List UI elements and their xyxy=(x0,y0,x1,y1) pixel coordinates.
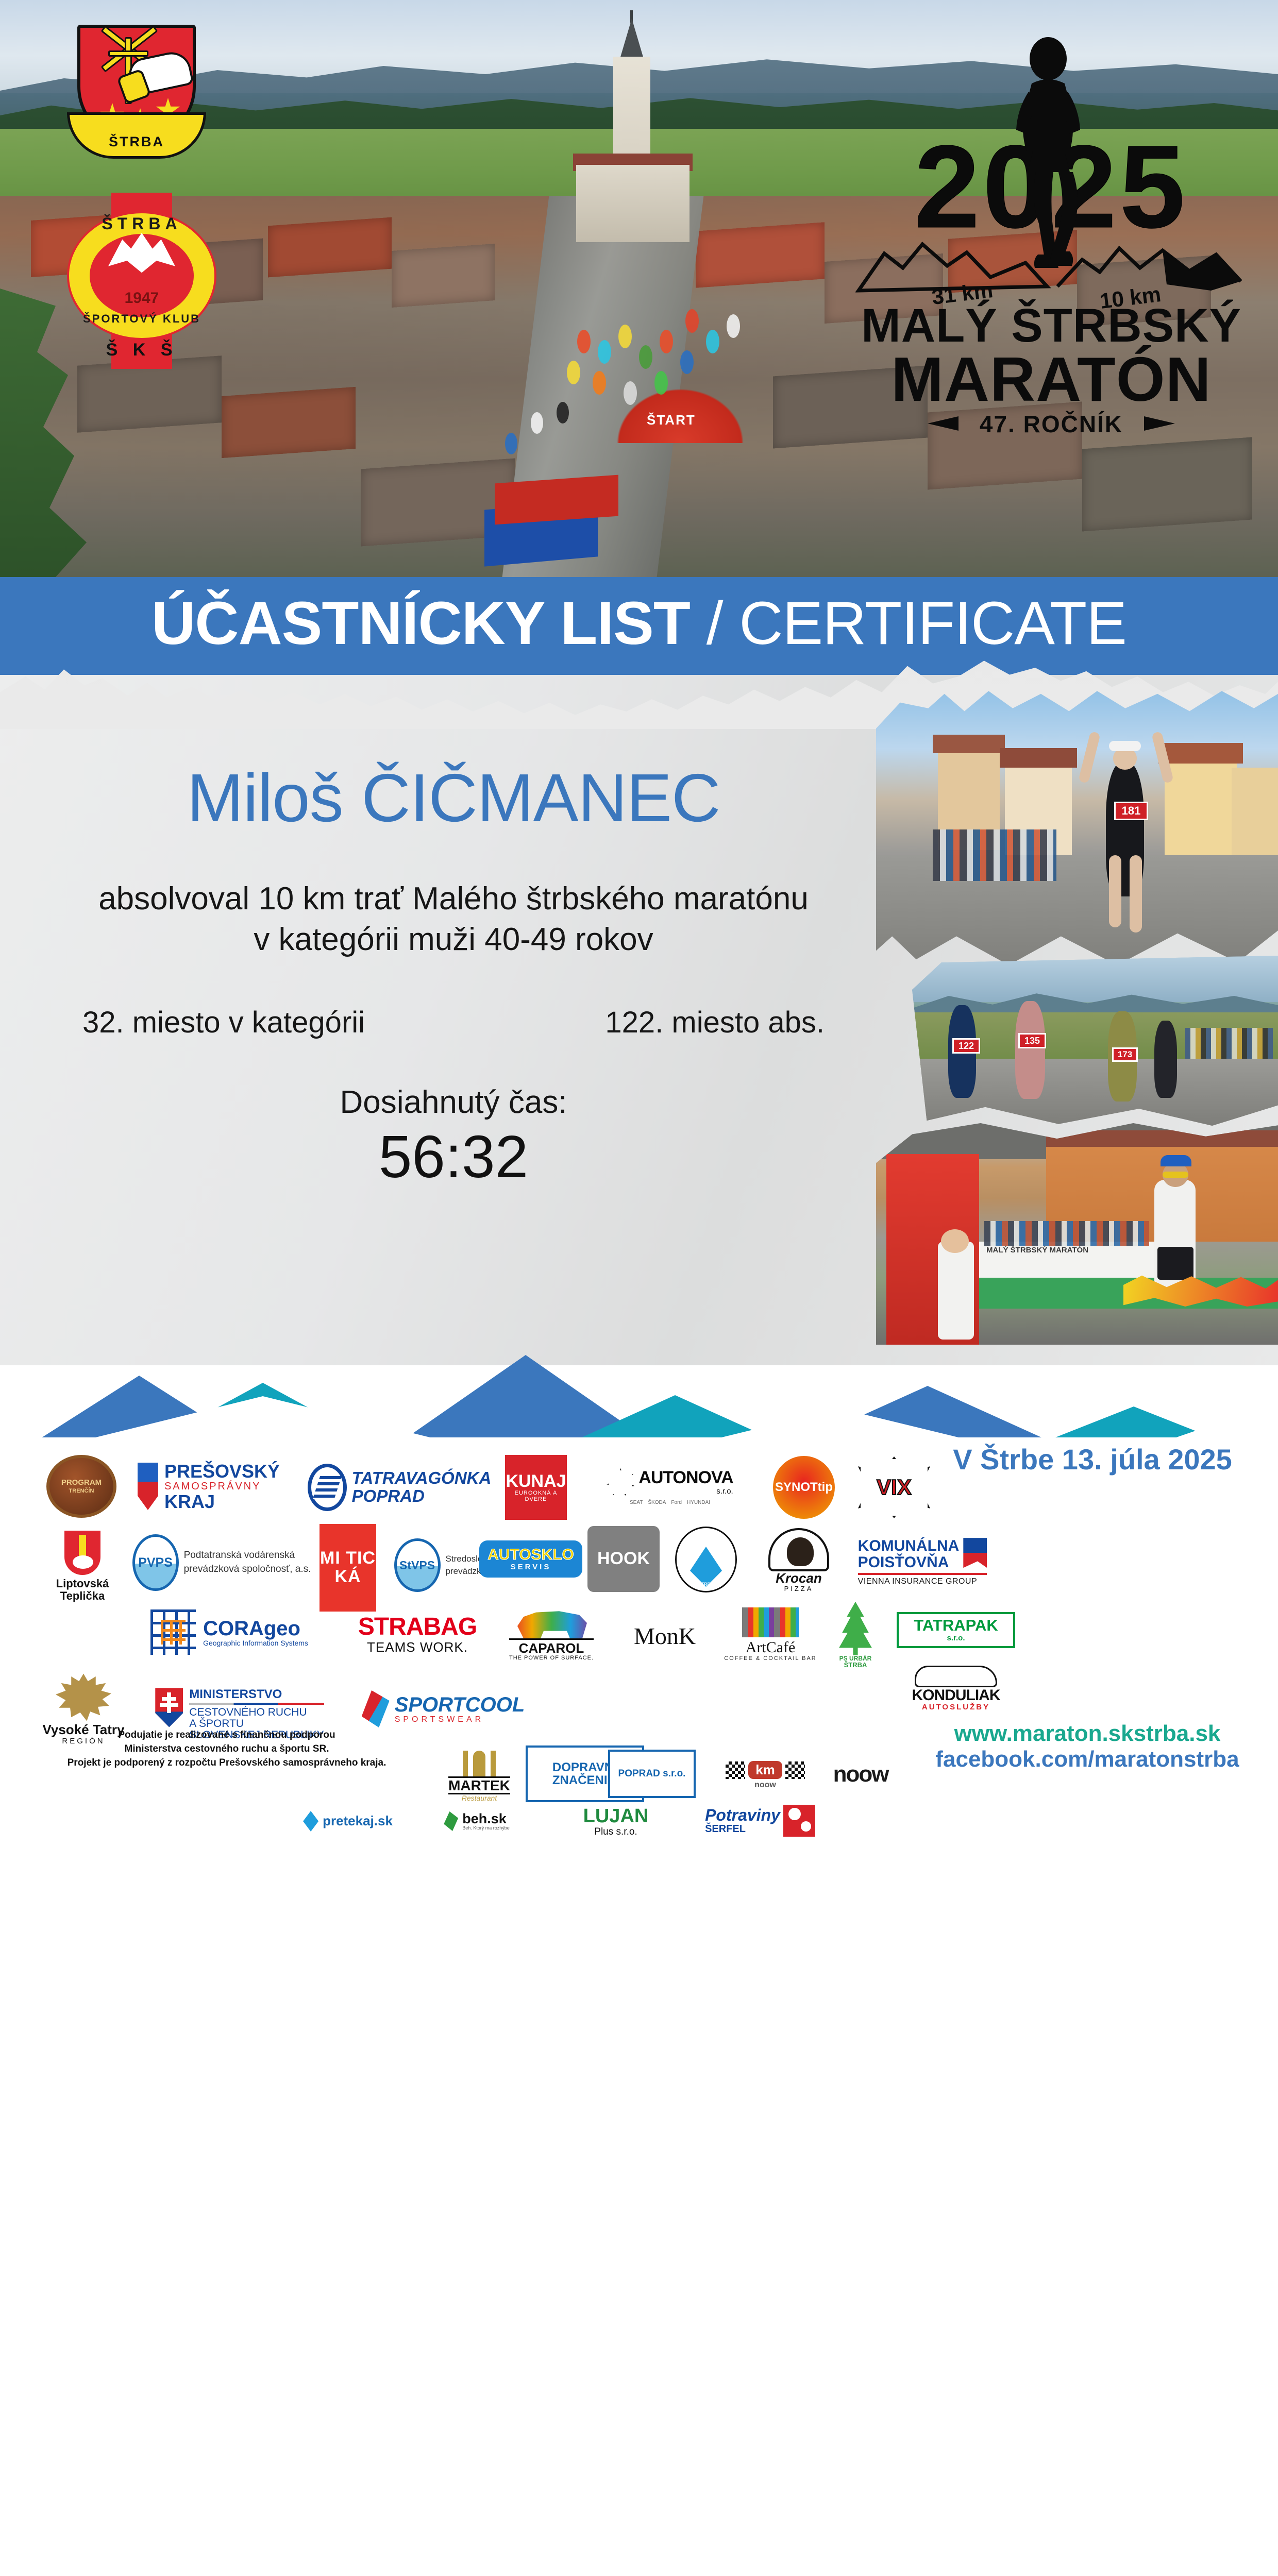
sponsor-potraviny-serfel[interactable]: Potraviny ŠERFEL xyxy=(685,1799,835,1842)
runner-dot xyxy=(680,350,694,374)
sportcool-mark-icon xyxy=(362,1690,390,1727)
roof xyxy=(392,244,495,308)
runner-dot xyxy=(727,314,740,338)
runner-dot xyxy=(593,371,606,395)
spectator-dot xyxy=(505,433,517,454)
folk-girl-head xyxy=(941,1229,969,1253)
roof xyxy=(268,217,392,278)
sponsor-sublabel: s.r.o. xyxy=(638,1487,733,1496)
sks-arc-text: ŠPORTOVÝ KLUB xyxy=(67,312,216,326)
sponsor-komunalna-poistovna[interactable]: KOMUNÁLNA POISŤOVŇA VIENNA INSURANCE GRO… xyxy=(850,1529,995,1595)
runner-leg xyxy=(1130,855,1142,933)
certificate-banner: ÚČASTNÍCKY LIST / CERTIFICATE xyxy=(0,577,1278,675)
sponsor-sublabel: AUTOSLUŽBY xyxy=(912,1703,1000,1711)
sky xyxy=(912,956,1278,1002)
sponsor-label: MINISTERSTVO xyxy=(189,1688,324,1701)
sponsor-pd-strba[interactable]: ŠTRBA xyxy=(670,1526,742,1593)
sponsor-label: SPORTCOOL xyxy=(395,1694,525,1716)
sponsor-sublabel: COFFEE & COCKTAIL BAR xyxy=(724,1656,817,1662)
sponsor-presovsky-kraj[interactable]: PREŠOVSKÝ SAMOSPRÁVNY KRAJ xyxy=(134,1458,283,1515)
sponsor-label: VIX xyxy=(877,1476,912,1499)
roof xyxy=(696,222,825,287)
sponsor-poprad-sro[interactable]: POPRAD s.r.o. xyxy=(608,1750,696,1798)
winner-sunglasses xyxy=(1163,1172,1188,1178)
sponsor-caparol[interactable]: CAPAROL THE POWER OF SURFACE. xyxy=(495,1602,608,1667)
sponsor-vix[interactable]: VIX xyxy=(855,1455,933,1520)
sponsor-label: MARTEK xyxy=(448,1776,510,1794)
sponsor-sublabel: POISŤOVŇA xyxy=(858,1554,960,1571)
certificate-content: Miloš ČIČMANEC absolvoval 10 km trať Mal… xyxy=(0,762,907,1189)
autonova-star-icon xyxy=(607,1468,634,1496)
pretekaj-mark-icon xyxy=(303,1811,318,1832)
spectators xyxy=(933,829,1056,881)
sponsor-miticka[interactable]: MI TIC KÁ xyxy=(320,1524,376,1612)
runner-cap xyxy=(1109,741,1141,751)
sponsor-label: MonK xyxy=(634,1624,696,1649)
event-date: V Štrbe 13. júla 2025 xyxy=(922,1443,1263,1476)
sponsor-ps-urbar-strba[interactable]: PS URBÁR ŠTRBA xyxy=(819,1599,892,1671)
finish-time-value: 56:32 xyxy=(0,1126,907,1189)
roof xyxy=(933,735,1005,753)
facebook-url[interactable]: facebook.com/maratonstrba xyxy=(907,1747,1268,1772)
runner-dot xyxy=(567,361,580,384)
mountain-outline-icon xyxy=(855,237,1247,304)
arrow-right-icon xyxy=(1144,416,1175,431)
sks-top-text: ŠTRBA xyxy=(67,214,216,233)
banner-title: ÚČASTNÍCKY LIST / CERTIFICATE xyxy=(0,588,1278,658)
sponsor-behsk[interactable]: beh.sk Beh. Ktorý ma rozhýbe xyxy=(417,1803,536,1839)
church-body xyxy=(576,165,690,242)
sponsor-sublabel: POPRAD xyxy=(352,1487,492,1505)
sponsor-label: ArtCafé xyxy=(724,1639,817,1656)
spectator-dot xyxy=(557,402,569,423)
runner-bib: 181 xyxy=(1114,802,1148,820)
sponsor-lujan-plus[interactable]: LUJAN Plus s.r.o. xyxy=(562,1801,670,1842)
sponsor-strabag[interactable]: STRABAG TEAMS WORK. xyxy=(350,1603,484,1665)
sponsor-sublabel2: KRAJ xyxy=(164,1492,280,1512)
caparol-elephant-icon xyxy=(513,1607,590,1638)
marathon-logo: 2025 31 km 10 km MALÝ ŠTRBSKÝ MARATÓN 4 xyxy=(840,31,1263,469)
achievement-line-1: absolvoval 10 km trať Malého štrbského m… xyxy=(0,878,907,919)
time-label: Dosiahnutý čas: xyxy=(0,1084,907,1121)
sponsor-sublabel: noow xyxy=(726,1781,805,1790)
winner-headband xyxy=(1161,1155,1191,1166)
chamois-icon xyxy=(56,1673,111,1721)
banner-title-en: CERTIFICATE xyxy=(739,589,1126,657)
sponsor-label: PROGRAM xyxy=(61,1478,102,1488)
sponsor-label: CORAgeo xyxy=(203,1618,308,1639)
sponsor-liptovska-teplicka[interactable]: Liptovská Teplička xyxy=(41,1528,124,1605)
sponsor-sublabel: Plus s.r.o. xyxy=(583,1827,649,1837)
finish-banner-text: MALÝ ŠTRBSKÝ MARATÓN xyxy=(986,1246,1131,1256)
sponsor-sublabel: Teplička xyxy=(56,1590,109,1602)
crest-crossbar xyxy=(108,50,148,57)
disclaimer-line-3: Projekt je podporený z rozpočtu Prešovsk… xyxy=(31,1756,423,1770)
runner-body xyxy=(1015,1001,1045,1099)
sponsor-label: KONDULIAK xyxy=(912,1687,1000,1704)
place-absolute: 122. miesto abs. xyxy=(605,1005,825,1040)
sks-year: 1947 xyxy=(67,290,216,307)
sponsor-synot-tip[interactable]: SYNOTtip xyxy=(768,1455,840,1520)
sponsor-autosklo-servis[interactable]: AUTOSKLO SERVIS xyxy=(479,1528,582,1590)
sponsor-sublabel: TRENČÍN xyxy=(61,1488,102,1495)
roof xyxy=(1158,743,1243,764)
start-arch-label: ŠTART xyxy=(647,412,696,428)
roof xyxy=(222,387,356,458)
house xyxy=(1232,768,1278,858)
runner-leg xyxy=(1109,855,1121,927)
disclaimer-line-1: Podujatie je realizované s finančnou pod… xyxy=(31,1728,423,1742)
runner-dot xyxy=(654,371,668,395)
sponsor-sublabel2: prevádzková spoločnosť, a.s. xyxy=(184,1563,311,1577)
spectators xyxy=(984,1221,1149,1246)
sponsor-tatrapak[interactable]: TATRAPAK s.r.o. xyxy=(897,1601,1015,1659)
sponsor-sublabel2: VIENNA INSURANCE GROUP xyxy=(858,1573,987,1586)
sponsor-sublabel: ŠERFEL xyxy=(705,1824,780,1835)
sponsor-sublabel: Podtatranská vodárenská xyxy=(184,1549,311,1563)
sponsor-sublabel: ŠTRBA xyxy=(698,1582,714,1587)
sponsor-sublabel: ŠTRBA xyxy=(836,1662,875,1669)
sponsor-label: HOOK xyxy=(597,1550,650,1568)
hero-photo-header: ŠTART ŠTRBA ŠTRBA xyxy=(0,0,1278,577)
sponsor-pretekaj-sk[interactable]: pretekaj.sk xyxy=(289,1803,407,1839)
sponsor-sublabel: s.r.o. xyxy=(947,1634,965,1642)
sponsor-label: TATRAPAK xyxy=(914,1616,998,1634)
sponsor-label: AUTONOVA xyxy=(638,1469,733,1487)
sks-sport-club-logo: ŠTRBA 1947 ŠPORTOVÝ KLUB Š K Š xyxy=(67,196,216,366)
sponsor-sublabel: EUROOKNÁ A DVERE xyxy=(505,1490,567,1502)
runner-dot xyxy=(660,330,673,353)
kraj-emblem-icon xyxy=(138,1463,158,1510)
sponsor-label: StVPS xyxy=(399,1559,435,1571)
sponsor-corageo[interactable]: CORAgeo Geographic Information Systems xyxy=(129,1601,330,1663)
sponsor-label: MI TIC KÁ xyxy=(320,1549,376,1586)
tatravagonka-mark-icon xyxy=(308,1464,347,1511)
photo-finish-female-runner: 181 xyxy=(876,685,1278,974)
runner-dot xyxy=(624,381,637,405)
sponsor-sublabel: SPORTSWEAR xyxy=(395,1716,525,1724)
church xyxy=(603,10,660,242)
behsk-mark-icon xyxy=(444,1811,458,1831)
tree-icon xyxy=(836,1602,875,1655)
photo-male-winner-finish: MALÝ ŠTRBSKÝ MARATÓN xyxy=(876,1123,1278,1345)
disclaimer-line-2: Ministerstva cestovného ruchu a športu S… xyxy=(31,1742,423,1756)
sponsor-sublabel: TEAMS WORK. xyxy=(358,1640,477,1654)
sponsor-artcafe[interactable]: ArtCafé COFFEE & COCKTAIL BAR xyxy=(721,1601,819,1668)
runner-dot xyxy=(706,330,719,353)
runner-body xyxy=(1154,1021,1177,1098)
autonova-brands: SEATŠKODAFordHYUNDAI xyxy=(607,1500,733,1506)
sponsor-label: Krocan xyxy=(768,1571,829,1585)
sponsor-tatravagonka[interactable]: TATRAVAGÓNKA POPRAD xyxy=(309,1459,490,1516)
event-tent-red xyxy=(495,475,618,525)
sponsor-label: km xyxy=(755,1762,775,1777)
sponsor-label: PVPS xyxy=(138,1556,173,1569)
sponsor-label: PREŠOVSKÝ xyxy=(164,1462,280,1481)
runner-dot xyxy=(639,345,652,369)
sponsor-label: SYNOTtip xyxy=(775,1481,833,1494)
car-icon xyxy=(915,1666,997,1687)
sponsor-label: CAPAROL xyxy=(509,1638,594,1655)
runner-bib: 135 xyxy=(1018,1033,1046,1048)
runner-dot xyxy=(685,309,699,333)
sponsor-krocan-pizza[interactable]: Krocan PIZZA xyxy=(758,1527,840,1593)
sponsor-label: beh.sk xyxy=(462,1811,507,1826)
sponsor-konduliak[interactable]: KONDULIAK AUTOSLUŽBY xyxy=(892,1659,1020,1718)
participant-name: Miloš ČIČMANEC xyxy=(0,762,907,834)
marathon-edition: 47. ROČNÍK xyxy=(840,410,1263,438)
banner-separator: / xyxy=(690,589,739,657)
cutlery-icon xyxy=(448,1748,510,1776)
sponsor-label: Liptovská xyxy=(56,1578,109,1589)
runner-arm xyxy=(1078,731,1101,784)
sponsor-label: Potraviny xyxy=(705,1807,780,1824)
sponsor-sublabel: SAMOSPRÁVNY xyxy=(164,1481,280,1492)
sks-bottom-text: Š K Š xyxy=(67,340,216,360)
sponsor-sublabel: PIZZA xyxy=(768,1585,829,1592)
sponsor-sublabel: SERVIS xyxy=(487,1563,574,1571)
photo-runners-on-course: 122 135 173 xyxy=(912,956,1278,1126)
runner-bib: 122 xyxy=(952,1038,980,1054)
sponsor-label: POPRAD s.r.o. xyxy=(618,1769,686,1779)
sponsor-noow[interactable]: noow xyxy=(814,1747,907,1802)
sponsor-sublabel: Restaurant xyxy=(448,1794,510,1802)
sponsor-label: KOMUNÁLNA xyxy=(858,1538,960,1554)
sponsor-autonova[interactable]: AUTONOVA s.r.o. SEATŠKODAFordHYUNDAI xyxy=(587,1456,752,1518)
sponsor-sublabel: THE POWER OF SURFACE. xyxy=(509,1655,594,1662)
sponsor-sublabel: Geographic Information Systems xyxy=(203,1639,308,1647)
sponsor-hook[interactable]: HOOK xyxy=(587,1526,660,1592)
achievement-line-2: v kategórii muži 40-49 rokov xyxy=(0,919,907,960)
strba-coat-of-arms: ŠTRBA xyxy=(77,25,196,179)
sponsor-pvps[interactable]: PVPS Podtatranská vodárenská prevádzková… xyxy=(129,1529,314,1596)
marathon-title-line2: MARATÓN xyxy=(840,343,1263,415)
distant-runners xyxy=(1185,1028,1273,1059)
crest-ribbon-text: ŠTRBA xyxy=(70,134,204,150)
crest-ribbon: ŠTRBA xyxy=(67,112,206,159)
runner-dot xyxy=(577,330,591,353)
sponsor-kunaj[interactable]: KUNAJ EUROOKNÁ A DVERE xyxy=(505,1455,567,1520)
sponsor-label: KUNAJ xyxy=(505,1472,567,1491)
runner-bib: 173 xyxy=(1112,1047,1138,1062)
sponsor-label: AUTOSKLO xyxy=(487,1547,574,1563)
place-in-category: 32. miesto v kategórii xyxy=(82,1005,365,1040)
house xyxy=(1165,757,1237,855)
sponsor-sublabel2: A ŠPORTU xyxy=(189,1718,324,1730)
funding-disclaimer: Podujatie je realizované s finančnou pod… xyxy=(31,1728,423,1770)
sponsor-label: pretekaj.sk xyxy=(323,1814,393,1828)
winner-shorts xyxy=(1157,1247,1193,1280)
sponsor-sublabel: CESTOVNÉHO RUCHU xyxy=(189,1707,324,1718)
sponsor-label: noow xyxy=(833,1762,888,1786)
roof xyxy=(1000,748,1077,768)
sponsor-km-motocentrum[interactable]: km noow xyxy=(706,1744,825,1806)
banner-title-sk: ÚČASTNÍCKY LIST xyxy=(152,589,690,657)
sponsor-label: STRABAG xyxy=(358,1614,477,1640)
sponsor-martek-restaurant[interactable]: MARTEK Restaurant xyxy=(423,1741,536,1808)
sponsor-label: TATRAVAGÓNKA xyxy=(352,1469,492,1487)
sponsor-monk[interactable]: MonK xyxy=(613,1605,716,1667)
runner-dot xyxy=(618,325,632,348)
website-url[interactable]: www.maraton.skstrba.sk xyxy=(907,1721,1268,1747)
runner-dot xyxy=(598,340,611,364)
sponsor-label: LUJAN xyxy=(583,1806,649,1827)
sponsor-program-trencin[interactable]: PROGRAM TRENČÍN xyxy=(40,1453,123,1520)
sponsor-sublabel: Beh. Ktorý ma rozhýbe xyxy=(462,1826,510,1831)
spectator-dot xyxy=(531,412,543,434)
